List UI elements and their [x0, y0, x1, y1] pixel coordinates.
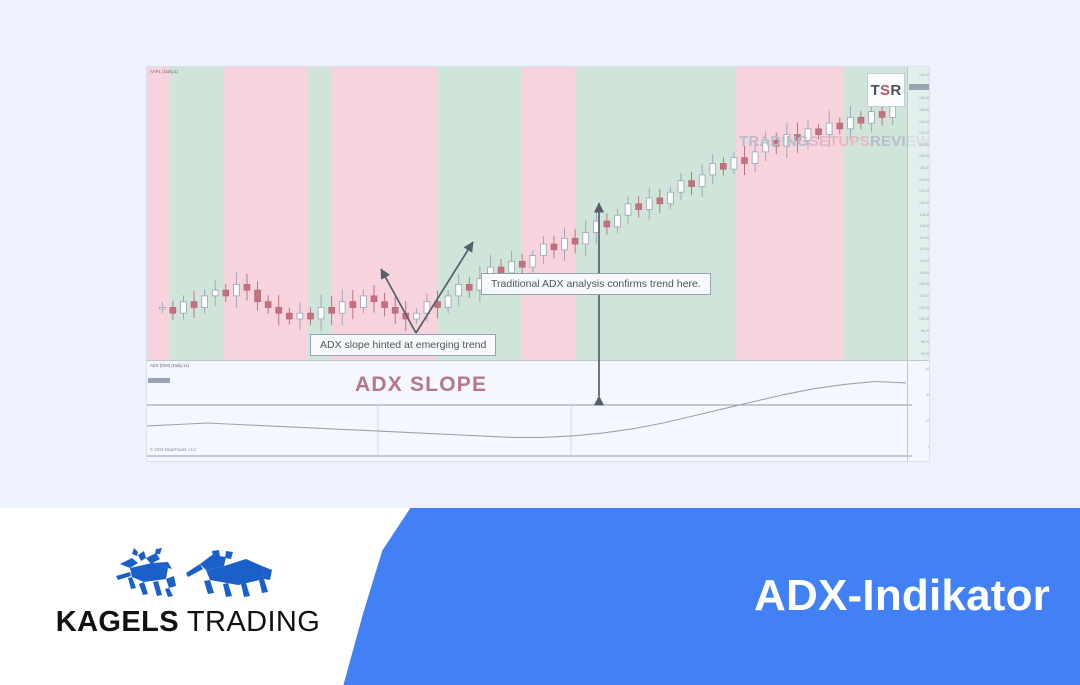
- candlestick: [519, 261, 525, 267]
- price-axis-tick: 122.00: [919, 189, 929, 193]
- candlestick: [562, 238, 568, 250]
- candlestick: [657, 198, 663, 204]
- candlestick: [604, 221, 610, 227]
- candlestick: [551, 244, 557, 250]
- candlestick: [212, 290, 218, 296]
- candlestick: [646, 198, 652, 210]
- candlestick: [837, 123, 843, 129]
- price-axis-tick: 94.00: [921, 352, 929, 356]
- candlestick: [847, 117, 853, 129]
- candlestick: [339, 302, 345, 314]
- candlestick: [361, 296, 367, 308]
- candlestick: [382, 302, 388, 308]
- adx-line-series: [147, 361, 912, 461]
- price-panel-label: AAPL (Daily,1): [150, 69, 178, 74]
- candlestick: [265, 302, 271, 308]
- candlestick: [636, 204, 642, 210]
- price-axis-tick: 132.00: [919, 131, 929, 135]
- price-axis-tick: 106.00: [919, 282, 929, 286]
- candlestick: [318, 307, 324, 319]
- tsr-letter-r: R: [890, 82, 901, 99]
- price-axis-tick: 114.00: [919, 236, 929, 240]
- candlestick: [869, 112, 875, 124]
- candlestick: [255, 290, 261, 302]
- candlestick: [403, 313, 409, 319]
- candlestick: [752, 152, 758, 164]
- tsr-letter-t: T: [871, 82, 880, 99]
- candlestick: [731, 158, 737, 170]
- candlestick: [350, 302, 356, 308]
- price-axis-tick: 118.00: [919, 213, 929, 217]
- candlestick: [276, 307, 282, 313]
- price-axis-tick: 102.00: [919, 306, 929, 310]
- candlestick: [191, 302, 197, 308]
- price-axis-tick: 112.00: [919, 247, 929, 251]
- candlestick: [466, 284, 472, 290]
- candlestick: [286, 313, 292, 319]
- candlestick: [413, 313, 419, 319]
- watermark-highlight: SETUPS: [809, 133, 870, 150]
- price-axis-tick: 104.00: [919, 294, 929, 298]
- candlestick: [615, 215, 621, 227]
- adx-axis-tick: 40: [926, 393, 929, 397]
- price-axis-highlight: [909, 84, 929, 90]
- candlestick: [699, 175, 705, 187]
- price-axis-tick: 126.00: [919, 166, 929, 170]
- kagels-trading-logo: KAGELS TRADING: [38, 546, 338, 656]
- adx-slope-watermark: ADX SLOPE: [355, 373, 487, 397]
- candlestick: [223, 290, 229, 296]
- price-axis-tick: 98.00: [921, 329, 929, 333]
- candlestick: [498, 267, 504, 273]
- branding-band: ADX-Indikator: [0, 508, 1080, 685]
- adx-copyright-note: © 2015 NinjaTrader, LLC: [150, 447, 196, 452]
- site-watermark: TRADINGSETUPSREVIEW.COM: [739, 133, 930, 150]
- candlestick: [530, 256, 536, 268]
- candlestick: [308, 313, 314, 319]
- candlestick: [170, 307, 176, 313]
- price-axis-tick: 134.00: [919, 120, 929, 124]
- page-root: AAPL (Daily,1) 142.00140.00138.00136.001…: [0, 0, 1080, 685]
- candlestick: [890, 106, 896, 118]
- candlestick: [572, 238, 578, 244]
- candlestick: [678, 181, 684, 193]
- price-axis-tick: 108.00: [919, 271, 929, 275]
- candlestick-series: [147, 67, 912, 360]
- candlestick: [392, 307, 398, 313]
- candlestick: [689, 181, 695, 187]
- candlestick: [593, 221, 599, 233]
- price-axis-tick: 100.00: [919, 317, 929, 321]
- price-axis-tick: 110.00: [919, 259, 929, 263]
- candlestick: [159, 307, 165, 309]
- callout-adx-slope-hint: ADX slope hinted at emerging trend: [310, 334, 496, 356]
- candlestick: [202, 296, 208, 308]
- price-axis-tick: 142.00: [919, 73, 929, 77]
- adx-axis: 6040200: [907, 361, 929, 461]
- candlestick: [879, 112, 885, 118]
- candlestick: [858, 117, 864, 123]
- price-axis-tick: 128.00: [919, 154, 929, 158]
- candlestick: [233, 284, 239, 296]
- callout-traditional-adx: Traditional ADX analysis confirms trend …: [481, 273, 711, 295]
- adx-axis-tick: 0: [928, 445, 929, 449]
- trading-chart: AAPL (Daily,1) 142.00140.00138.00136.001…: [146, 66, 930, 462]
- candlestick: [583, 233, 589, 245]
- adx-line-path: [147, 382, 906, 438]
- candlestick: [509, 261, 515, 273]
- price-axis-tick: 116.00: [919, 224, 929, 228]
- price-axis-tick: 124.00: [919, 178, 929, 182]
- candlestick: [297, 313, 303, 319]
- adx-axis-tick: 20: [926, 419, 929, 423]
- logo-word-kagels: KAGELS: [56, 606, 179, 638]
- price-axis-tick: 120.00: [919, 201, 929, 205]
- adx-panel-label: ADX (DMI) (Daily,14): [150, 363, 189, 368]
- candlestick: [435, 302, 441, 308]
- candlestick: [244, 284, 250, 290]
- tsr-letter-s: S: [880, 82, 890, 99]
- price-axis-tick: 96.00: [921, 340, 929, 344]
- candlestick: [720, 163, 726, 169]
- tsr-logo-badge: TSR: [867, 73, 905, 107]
- candlestick: [424, 302, 430, 314]
- logo-wordmark: KAGELS TRADING: [38, 606, 338, 639]
- candlestick: [742, 158, 748, 164]
- candlestick: [181, 302, 187, 314]
- candlestick: [625, 204, 631, 216]
- price-axis-tick: 130.00: [919, 143, 929, 147]
- page-title: ADX-Indikator: [754, 571, 1050, 621]
- candlestick: [329, 307, 335, 313]
- candlestick: [456, 284, 462, 296]
- adx-indicator-panel: ADX (DMI) (Daily,14) © 2015 NinjaTrader,…: [147, 360, 929, 461]
- candlestick: [445, 296, 451, 308]
- candlestick: [371, 296, 377, 302]
- price-axis-tick: 136.00: [919, 108, 929, 112]
- price-axis-tick: 138.00: [919, 96, 929, 100]
- candlestick: [540, 244, 546, 256]
- watermark-part1: TRADING: [739, 133, 809, 150]
- candlestick: [710, 163, 716, 175]
- candlestick: [667, 192, 673, 204]
- adx-axis-tick: 60: [926, 367, 929, 371]
- price-axis: 142.00140.00138.00136.00134.00132.00130.…: [907, 67, 929, 360]
- bull-and-bear-icon: [86, 546, 286, 604]
- price-panel: AAPL (Daily,1) 142.00140.00138.00136.001…: [147, 67, 929, 360]
- adx-axis-highlight: [148, 378, 170, 383]
- logo-word-trading: TRADING: [179, 606, 320, 638]
